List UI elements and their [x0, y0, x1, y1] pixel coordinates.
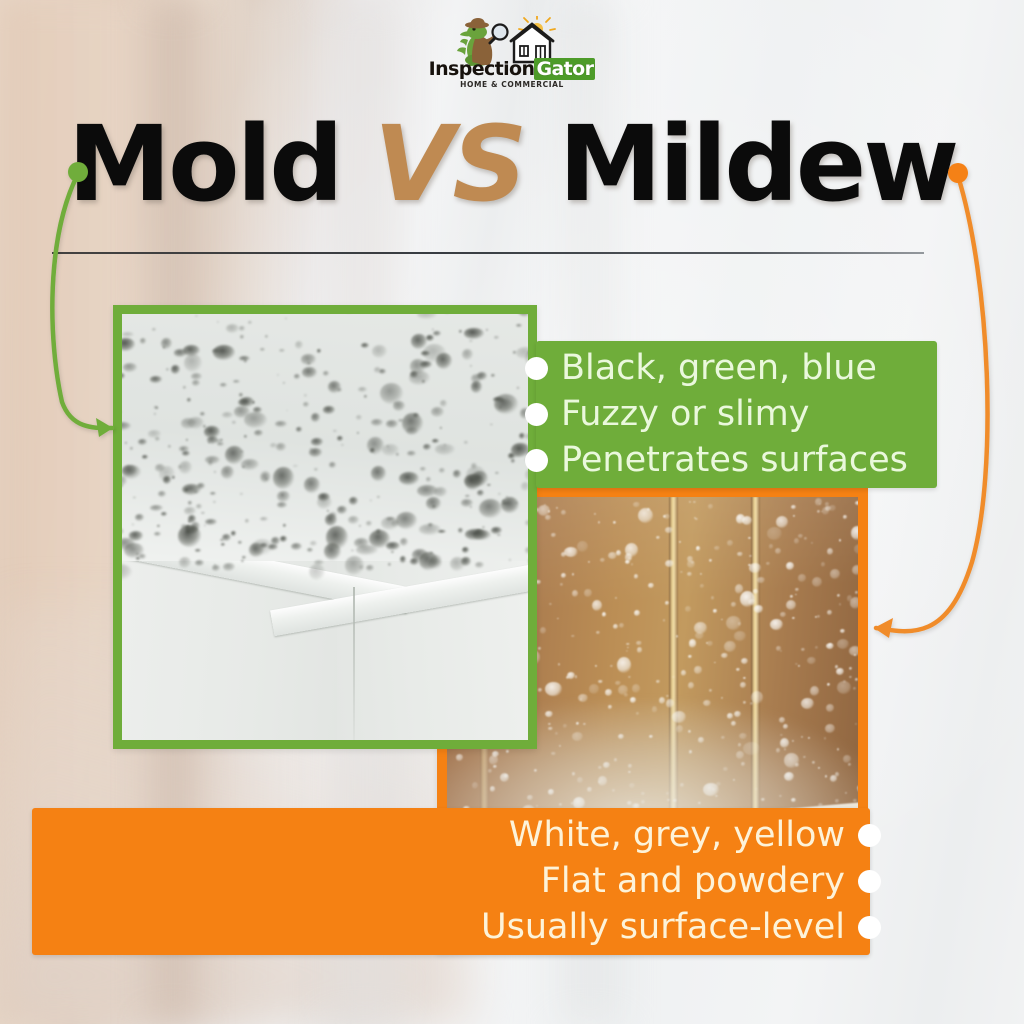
mold-speck [482, 526, 485, 529]
mildew-powder-speck [807, 657, 816, 664]
mold-speck [356, 415, 362, 420]
mildew-fact-label: Flat and powdery [541, 864, 845, 899]
mold-speck [296, 427, 301, 432]
mold-speck [158, 491, 166, 497]
mildew-powder-speck [706, 642, 708, 644]
mold-speck [285, 318, 287, 319]
mold-ceiling [122, 314, 528, 561]
mildew-powder-speck [672, 676, 674, 678]
mold-speck [333, 430, 336, 432]
mold-speck [277, 374, 280, 376]
mold-speck [303, 402, 309, 407]
bullet-dot-icon [858, 916, 881, 939]
mold-speck [495, 472, 499, 474]
mold-speck [249, 543, 264, 558]
mold-speck [453, 470, 461, 477]
mildew-powder-speck [736, 514, 745, 524]
mildew-powder-speck [618, 685, 628, 695]
mold-speck [154, 532, 161, 536]
mildew-powder-speck [821, 562, 825, 567]
mold-speck [252, 401, 255, 404]
mold-speck [138, 439, 147, 446]
mold-speck [186, 439, 188, 441]
mold-speck [140, 338, 147, 344]
mold-speck [222, 412, 233, 418]
mold-speck [486, 329, 489, 331]
mold-speck [221, 543, 226, 546]
mold-speck [155, 437, 160, 440]
mold-speck [435, 444, 455, 455]
mildew-powder-speck [594, 513, 596, 515]
mildew-powder-speck [840, 629, 845, 633]
mold-speck [130, 447, 133, 450]
mildew-powder-speck [665, 527, 673, 532]
mold-speck [357, 432, 359, 434]
mold-speck [501, 497, 519, 513]
title-word-vs: VS [374, 103, 525, 225]
mold-speck [205, 519, 217, 526]
mold-speck [398, 419, 405, 422]
mold-fact-label: Black, green, blue [561, 351, 877, 386]
mildew-powder-speck [598, 680, 603, 684]
mildew-powder-speck [740, 682, 746, 688]
mold-speck [217, 321, 219, 323]
mold-speck [517, 387, 520, 389]
mildew-powder-speck [625, 553, 633, 561]
mold-speck [351, 550, 353, 551]
mold-speck [184, 507, 195, 515]
mold-speck [265, 335, 268, 338]
mold-speck [426, 477, 432, 482]
mold-speck [280, 536, 286, 542]
mildew-powder-speck [592, 600, 602, 611]
mold-fact-row: Penetrates surfaces [536, 438, 921, 484]
mold-speck [464, 441, 469, 445]
mold-speck [195, 315, 199, 317]
mildew-powder-speck [770, 619, 783, 630]
mold-speck [123, 363, 137, 372]
mildew-powder-speck [714, 546, 719, 550]
bullet-dot-icon [525, 403, 548, 426]
mold-speck [215, 439, 222, 443]
mold-speck [240, 335, 245, 339]
mold-speck [470, 365, 472, 367]
mold-fact-label: Penetrates surfaces [561, 443, 908, 478]
mold-speck [458, 528, 463, 533]
mildew-powder-speck [734, 631, 746, 640]
mold-speck [185, 530, 193, 534]
mold-speck [171, 365, 180, 374]
mildew-powder-speck [685, 606, 691, 612]
mold-speck [220, 539, 224, 541]
mildew-powder-speck [836, 668, 844, 675]
mold-speck [462, 547, 470, 554]
mold-speck [265, 478, 268, 480]
bullet-dot-icon [858, 870, 881, 893]
mildew-powder-speck [613, 624, 618, 629]
mold-speck [440, 427, 442, 428]
mildew-powder-speck [753, 589, 758, 594]
mildew-powder-speck [561, 573, 566, 578]
mold-speck [208, 460, 213, 465]
mold-speck [494, 336, 498, 339]
mold-speck [396, 512, 417, 529]
mildew-powder-speck [707, 641, 713, 646]
mildew-powder-speck [696, 546, 700, 551]
mold-speck [245, 519, 249, 523]
mildew-powder-speck [766, 562, 769, 564]
mold-speck [311, 413, 320, 422]
mildew-powder-speck [689, 639, 696, 647]
bullet-dot-icon [525, 449, 548, 472]
mold-speck [254, 430, 264, 437]
mold-speck [122, 465, 141, 479]
brand-wordmark: InspectionGator [424, 60, 600, 79]
mold-speck [239, 326, 245, 331]
mold-speck [479, 499, 503, 519]
mildew-powder-speck [815, 646, 818, 649]
mold-speck [220, 383, 227, 386]
mold-speck [309, 448, 323, 457]
mold-speck [509, 559, 511, 561]
mold-speck [277, 491, 290, 503]
mold-speck [196, 504, 202, 509]
mold-speck [204, 525, 207, 526]
mildew-powder-speck [853, 687, 856, 690]
mildew-powder-speck [596, 631, 600, 634]
brand-name-part-two: Gator [534, 58, 595, 80]
mold-speck [433, 331, 441, 336]
mold-speck [412, 549, 428, 561]
mold-speck [301, 354, 316, 365]
mold-speck [152, 328, 156, 331]
mold-speck [477, 490, 484, 496]
mildew-powder-speck [681, 670, 686, 676]
mold-speck [359, 525, 361, 527]
mildew-powder-speck [619, 623, 624, 628]
mold-speck [150, 505, 163, 511]
mold-speck [260, 517, 267, 521]
mold-speck [440, 400, 447, 406]
mold-speck [248, 321, 252, 324]
mildew-powder-speck [810, 686, 819, 696]
mold-speck [240, 493, 243, 495]
mold-speck [302, 367, 317, 378]
mildew-powder-speck [708, 504, 713, 509]
mold-speck [432, 439, 440, 443]
mold-speck [417, 314, 437, 319]
mold-speck [413, 413, 419, 418]
mildew-powder-speck [792, 617, 795, 619]
mold-speck [122, 422, 131, 430]
mold-speck [182, 484, 201, 495]
mildew-powder-speck [545, 515, 550, 520]
mildew-powder-speck [827, 548, 833, 555]
mildew-powder-speck [688, 655, 692, 658]
mold-speck [286, 410, 288, 411]
mold-speck [407, 451, 416, 457]
mildew-fact-label: White, grey, yellow [509, 818, 845, 853]
mold-speck [426, 335, 434, 341]
brand-tagline: HOME & COMMERCIAL [424, 80, 600, 89]
mold-speck [371, 419, 384, 426]
mildew-powder-speck [600, 558, 605, 562]
mildew-powder-speck [578, 694, 588, 702]
mold-speck [132, 524, 134, 525]
mold-speck [273, 467, 294, 489]
mildew-powder-speck [835, 665, 838, 669]
mold-speck [157, 525, 160, 528]
mold-speck [502, 500, 505, 502]
mold-speck [519, 433, 525, 439]
mold-speck [181, 418, 196, 429]
mold-speck [329, 462, 336, 468]
mold-speck [195, 549, 200, 552]
mold-speck [472, 471, 488, 486]
mold-speck [181, 524, 187, 529]
mildew-powder-speck [540, 627, 546, 634]
mold-speck [328, 381, 341, 394]
brand-logo: InspectionGator HOME & COMMERCIAL [424, 16, 600, 90]
mold-speck [242, 556, 246, 558]
mold-speck [210, 492, 216, 495]
mold-photo-card [113, 305, 537, 749]
mold-speck [469, 340, 473, 342]
mold-fact-label: Fuzzy or slimy [561, 397, 809, 432]
mold-speck [377, 496, 380, 498]
mildew-powder-speck [637, 647, 642, 653]
mold-speck [337, 436, 343, 441]
mildew-powder-speck [829, 505, 836, 510]
mold-speck [525, 433, 528, 440]
mildew-powder-speck [769, 544, 773, 548]
mold-speck [234, 406, 250, 417]
mold-speck [241, 560, 244, 562]
mildew-powder-speck [713, 609, 718, 612]
mold-speck [139, 554, 146, 559]
mildew-powder-speck [767, 527, 782, 540]
mildew-powder-speck [855, 678, 858, 681]
mold-speck [358, 387, 367, 392]
mold-speck [349, 497, 358, 505]
mold-speck [223, 563, 234, 571]
mold-speck [231, 531, 236, 535]
mold-speck [125, 442, 127, 444]
mildew-powder-speck [572, 573, 575, 576]
mold-speck [212, 565, 220, 570]
brand-name-part-one: Inspection [429, 58, 535, 80]
mold-speck [420, 467, 426, 471]
mold-speck [372, 345, 387, 358]
mold-speck [233, 380, 240, 384]
mold-speck [439, 468, 445, 473]
mold-speck [187, 398, 191, 402]
mold-speck [155, 464, 165, 471]
mildew-powder-speck [663, 619, 666, 621]
mildew-powder-speck [617, 657, 631, 673]
mold-speck [122, 332, 134, 338]
mold-speck [154, 413, 156, 415]
mildew-powder-speck [851, 526, 858, 539]
mildew-powder-speck [724, 641, 736, 652]
mold-speck [525, 520, 528, 526]
mildew-powder-speck [687, 560, 695, 567]
mold-speck [179, 461, 192, 474]
mold-speck [192, 380, 200, 386]
mold-speck [221, 466, 234, 479]
mildew-powder-speck [850, 597, 858, 609]
mildew-powder-speck [843, 515, 847, 519]
mildew-powder-speck [721, 653, 728, 658]
title-divider [52, 252, 924, 254]
mildew-powder-speck [749, 555, 751, 558]
mold-speck [369, 530, 390, 548]
mold-speck [291, 543, 302, 550]
mildew-powder-speck [854, 654, 856, 656]
mold-speck [525, 468, 528, 482]
mildew-fact-row: White, grey, yellow [48, 813, 870, 859]
mold-speck [464, 328, 484, 339]
mildew-powder-speck [700, 573, 702, 575]
mold-speck [359, 565, 364, 569]
mold-speck [409, 371, 429, 385]
mold-speck [491, 374, 495, 377]
mold-speck [327, 510, 330, 512]
title-word-mold: Mold [68, 103, 341, 225]
mold-speck [462, 349, 473, 360]
mold-speck [122, 528, 124, 535]
mold-fact-row: Black, green, blue [536, 346, 921, 392]
mold-speck [498, 493, 501, 495]
mold-speck [276, 443, 286, 451]
bullet-dot-icon [858, 824, 881, 847]
mold-speck [133, 497, 136, 498]
mold-speck [213, 345, 235, 360]
mold-speck [294, 374, 300, 379]
mold-speck [317, 349, 322, 353]
mildew-fact-row: Usually surface-level [48, 905, 870, 951]
mold-speck [459, 330, 462, 332]
mold-speck [438, 530, 446, 534]
mold-speck [182, 449, 184, 450]
mold-speck [432, 329, 434, 331]
mildew-fact-box: White, grey, yellow Flat and powdery Usu… [32, 808, 870, 955]
mold-speck [309, 564, 325, 581]
mold-speck [465, 529, 486, 539]
mildew-powder-speck [837, 639, 849, 649]
mold-speck [244, 435, 247, 438]
mold-corner-seam [353, 587, 355, 740]
mildew-powder-speck [665, 560, 674, 567]
mold-speck [337, 506, 347, 514]
mold-speck [423, 444, 431, 450]
mold-speck [470, 506, 472, 507]
mold-speck [188, 501, 192, 504]
mold-speck [423, 344, 446, 362]
mildew-powder-speck [694, 622, 707, 634]
mold-speck [348, 516, 359, 524]
mildew-powder-speck [754, 605, 763, 612]
mold-photo [122, 314, 528, 740]
mold-speck [135, 514, 144, 521]
mold-speck [431, 407, 444, 418]
mildew-powder-speck [748, 537, 751, 539]
mold-speck [361, 343, 369, 348]
mildew-powder-speck [826, 643, 834, 649]
mildew-powder-speck [689, 501, 691, 503]
title-word-mildew: Mildew [559, 103, 957, 225]
mold-speck [279, 349, 285, 352]
mold-speck [275, 421, 286, 427]
mold-speck [506, 496, 509, 498]
mold-speck [184, 354, 202, 372]
mildew-powder-speck [557, 618, 559, 620]
mold-speck [226, 324, 239, 333]
mildew-powder-speck [855, 591, 857, 594]
mildew-powder-speck [749, 563, 761, 573]
mold-speck [201, 512, 205, 514]
mold-speck [244, 359, 248, 363]
mildew-powder-speck [855, 501, 858, 505]
mildew-powder-speck [798, 534, 803, 537]
mold-speck [154, 406, 158, 408]
mold-speck [525, 547, 528, 553]
mold-speck [519, 314, 528, 317]
mold-speck [341, 444, 344, 446]
mildew-powder-speck [584, 589, 592, 597]
page-title: Mold VS Mildew [0, 112, 1024, 216]
mold-speck [195, 560, 204, 566]
mold-speck [461, 557, 471, 565]
mold-speck [399, 472, 419, 485]
mold-speck [191, 373, 202, 380]
mold-speck [166, 368, 169, 371]
mold-fact-row: Fuzzy or slimy [536, 392, 921, 438]
mold-speck [511, 459, 515, 463]
mildew-powder-speck [634, 610, 640, 616]
mold-speck [465, 495, 470, 498]
mold-speck [391, 551, 394, 553]
mildew-powder-speck [638, 508, 653, 523]
mold-speck [293, 465, 298, 468]
mold-speck [239, 393, 244, 396]
mildew-powder-speck [610, 665, 612, 667]
mold-speck [521, 482, 528, 490]
mold-speck [183, 386, 186, 389]
mold-speck [487, 484, 491, 486]
mold-speck [364, 395, 367, 398]
mold-speck [304, 477, 320, 493]
mold-speck [281, 494, 284, 496]
mildew-powder-speck [551, 533, 556, 538]
mold-speck [200, 412, 205, 416]
mildew-powder-speck [793, 515, 795, 518]
mold-speck [400, 538, 408, 546]
mildew-powder-speck [795, 588, 798, 591]
mold-speck [495, 399, 513, 413]
mold-speck [366, 521, 373, 526]
mold-speck [426, 497, 441, 510]
mold-speck [406, 427, 418, 435]
mold-speck [168, 445, 171, 447]
mildew-powder-speck [605, 689, 612, 696]
mold-speck [238, 541, 243, 544]
mildew-powder-speck [648, 583, 654, 588]
mildew-powder-speck [731, 602, 736, 607]
mold-speck [283, 382, 285, 384]
mildew-powder-speck [852, 565, 858, 575]
mildew-powder-speck [636, 641, 642, 646]
